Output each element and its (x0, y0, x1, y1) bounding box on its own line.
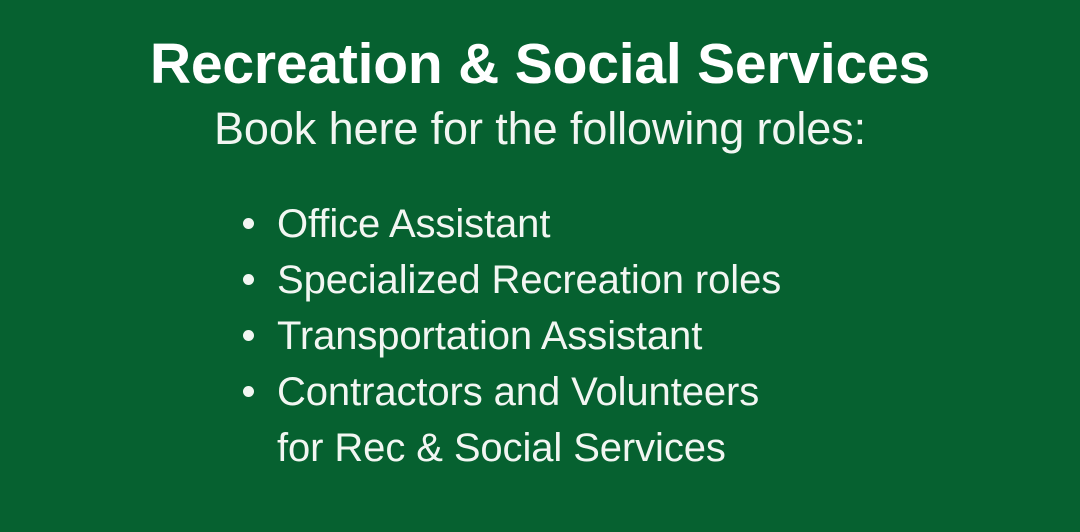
roles-list: Office Assistant Specialized Recreation … (240, 196, 940, 476)
bullet-icon (243, 274, 254, 285)
list-item-label-continuation: for Rec & Social Services (277, 420, 940, 476)
list-item-label: Contractors and Volunteers (277, 364, 940, 420)
list-item-label: Office Assistant (277, 196, 940, 252)
announcement-slide: Recreation & Social Services Book here f… (0, 0, 1080, 532)
list-item: Office Assistant (240, 196, 940, 252)
page-title: Recreation & Social Services (0, 30, 1080, 98)
bullet-icon (243, 218, 254, 229)
list-item: Specialized Recreation roles (240, 252, 940, 308)
heading-block: Recreation & Social Services Book here f… (0, 30, 1080, 158)
list-item: Transportation Assistant (240, 308, 940, 364)
list-item: Contractors and Volunteers for Rec & Soc… (240, 364, 940, 476)
bullet-icon (243, 330, 254, 341)
list-item-label: Specialized Recreation roles (277, 252, 940, 308)
list-item-label: Transportation Assistant (277, 308, 940, 364)
bullet-icon (243, 386, 254, 397)
page-subtitle: Book here for the following roles: (0, 100, 1080, 158)
